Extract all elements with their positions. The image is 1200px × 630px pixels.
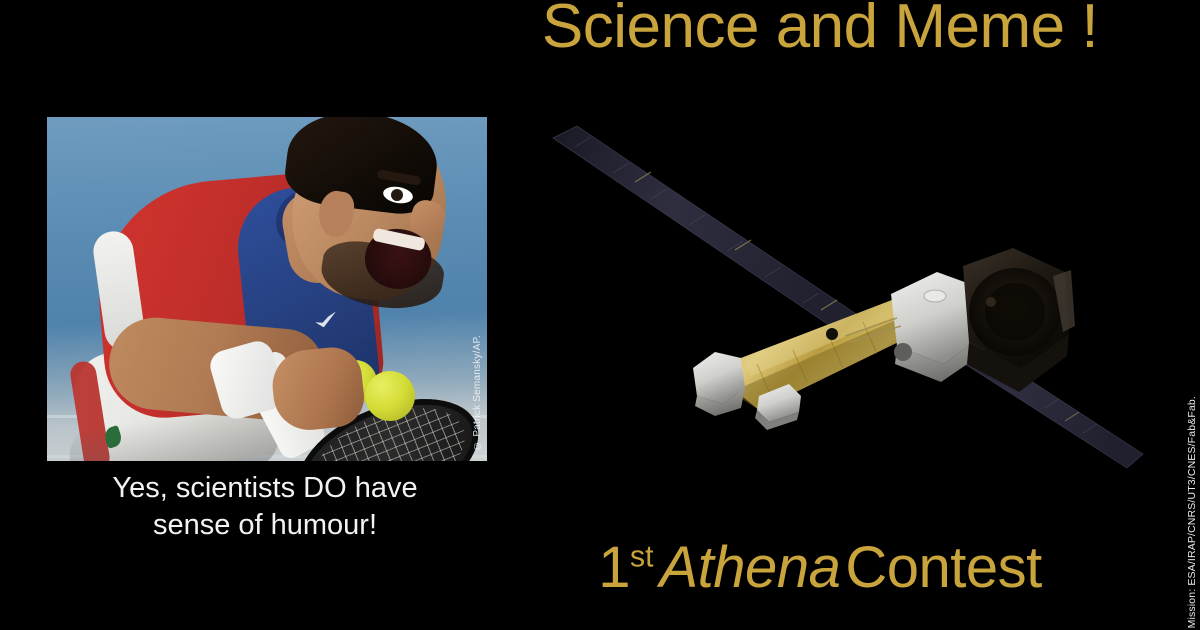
photo-credit: © Patrick Semansky/AP.: [472, 335, 483, 451]
poster-canvas: Science and Meme ! © Pat: [0, 0, 1200, 630]
mission-name: Athena: [654, 535, 846, 600]
ordinal-suffix: st: [630, 541, 653, 574]
ordinal-number: 1: [598, 535, 630, 600]
athena-spacecraft-illustration: [545, 120, 1145, 480]
tennis-ball: [365, 371, 415, 421]
player-pupil: [391, 189, 403, 201]
meme-caption-line-2: sense of humour!: [20, 507, 510, 544]
mirror-assembly: [963, 248, 1075, 392]
mission-credit: Athena Mission: ESA/IRAP/CNRS/UT3/CNES/F…: [1186, 396, 1198, 630]
contest-word: Contest: [845, 535, 1041, 600]
meme-caption: Yes, scientists DO have sense of humour!: [20, 470, 510, 544]
page-title: Science and Meme !: [520, 0, 1120, 59]
telescope-end-cap: [693, 352, 745, 416]
meme-caption-line-1: Yes, scientists DO have: [20, 470, 510, 507]
solar-panel-upper: [553, 126, 865, 336]
contest-title: 1stAthenaContest: [520, 538, 1120, 599]
meme-photo: © Patrick Semansky/AP.: [47, 117, 487, 461]
